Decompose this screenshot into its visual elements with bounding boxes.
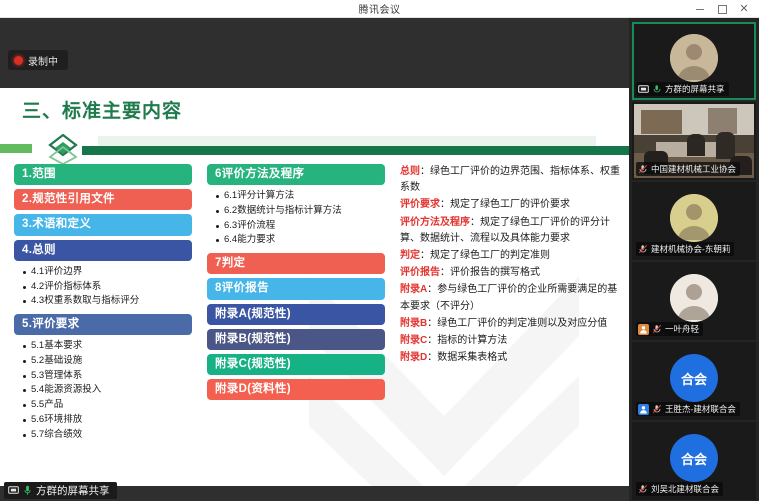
host-badge-icon	[638, 324, 649, 335]
slide-note: 附录B：绿色工厂评价的判定准则以及对应分值	[400, 316, 622, 332]
slide-note-label: 附录A	[400, 284, 427, 295]
participant-tile[interactable]: 中国建材机械工业协会	[632, 102, 756, 180]
slide-bullet-list: 5.1基本要求5.2基础设施5.3管理体系5.4能源资源投入5.5产品5.6环境…	[22, 339, 192, 442]
slide-bullet-item: 5.5产品	[22, 398, 192, 413]
slide-bullet-list: 6.1评分计算方法6.2数据统计与指标计算方法6.3评价流程6.4能力要求	[215, 189, 385, 248]
slide-note: 附录D：数据采集表格式	[400, 350, 622, 366]
slide-chip: 8评价报告	[207, 278, 385, 299]
participant-tile[interactable]: 合会刘吴北建材联合会	[632, 422, 756, 500]
meeting-stage: 录制中 三、标准主要内容 1.范围2.规范性引用文件3.术语和定义4.	[0, 18, 629, 501]
participant-name-bar: 建材机械协会-东朝莉	[636, 242, 734, 256]
participant-name-bar: 中国建材机械工业协会	[636, 162, 740, 176]
slide-note-label: 评价要求	[400, 199, 440, 210]
slide-note-text: ：规定了绿色工厂的评价要求	[440, 199, 570, 210]
slide-bullet-item: 6.1评分计算方法	[215, 189, 385, 204]
slide-bullet-item: 6.3评价流程	[215, 219, 385, 234]
slide-column-left: 1.范围2.规范性引用文件3.术语和定义4.总则4.1评价边界4.2评价指标体系…	[14, 164, 192, 447]
participant-name: 中国建材机械工业协会	[651, 163, 736, 175]
slide-chip: 1.范围	[14, 164, 192, 185]
slide-bullet-item: 5.3管理体系	[22, 369, 192, 384]
participant-tile[interactable]: 一叶舟轻	[632, 262, 756, 340]
screen-share-icon	[638, 84, 649, 95]
participant-name: 建材机械协会-东朝莉	[651, 243, 730, 255]
microphone-icon	[23, 485, 32, 496]
avatar: 合会	[670, 354, 718, 402]
participant-tile[interactable]: 合会王胜杰-建材联合会	[632, 342, 756, 420]
title-bar: 腾讯会议 ✕	[0, 0, 759, 18]
slide-bullet-list: 4.1评价边界4.2评价指标体系4.3权重系数取与指标评分	[22, 265, 192, 309]
slide-note-label: 附录D	[400, 352, 427, 363]
participant-name-bar: 一叶舟轻	[636, 322, 703, 336]
slide-chip: 3.术语和定义	[14, 214, 192, 235]
slide-bullet-item: 5.1基本要求	[22, 339, 192, 354]
slide-bullet-item: 4.2评价指标体系	[22, 280, 192, 295]
deco-bar-light	[98, 136, 596, 146]
slide-chip: 附录A(规范性)	[207, 304, 385, 325]
slide-chip: 7判定	[207, 253, 385, 274]
slide-note: 评价报告：评价报告的撰写格式	[400, 265, 622, 281]
slide-chip: 附录B(规范性)	[207, 329, 385, 350]
slide-columns: 1.范围2.规范性引用文件3.术语和定义4.总则4.1评价边界4.2评价指标体系…	[0, 164, 629, 484]
slide-note-text: ：评价报告的撰写格式	[440, 267, 540, 278]
microphone-muted-icon	[638, 164, 648, 174]
slide-bullet-item: 5.6环境排放	[22, 413, 192, 428]
slide-chip: 6评价方法及程序	[207, 164, 385, 185]
share-owner-name: 方群的屏幕共享	[36, 483, 110, 498]
slide-header-decoration	[0, 136, 629, 158]
slide-bullet-item: 5.7综合绩效	[22, 428, 192, 443]
participant-tile[interactable]: 建材机械协会-东朝莉	[632, 182, 756, 260]
participant-name-bar: 王胜杰-建材联合会	[636, 402, 740, 416]
microphone-icon	[652, 84, 662, 94]
microphone-muted-icon	[652, 404, 662, 414]
slide-bullet-item: 4.3权重系数取与指标评分	[22, 294, 192, 309]
slide-title: 三、标准主要内容	[22, 96, 182, 123]
slide-chip: 5.评价要求	[14, 314, 192, 335]
avatar	[670, 194, 718, 242]
participant-name-bar: 刘吴北建材联合会	[636, 482, 723, 496]
window-title: 腾讯会议	[359, 1, 401, 16]
slide-note-text: ：绿色工厂评价的判定准则以及对应分值	[427, 318, 607, 329]
slide-note-text: ：指标的计算方法	[427, 335, 507, 346]
microphone-muted-icon	[638, 484, 648, 494]
participant-name: 刘吴北建材联合会	[651, 483, 719, 495]
maximize-button[interactable]	[711, 0, 733, 18]
screen-share-icon	[8, 485, 19, 496]
screen-share-owner-label: 方群的屏幕共享	[4, 482, 117, 499]
participant-name: 王胜杰-建材联合会	[665, 403, 736, 415]
recording-indicator: 录制中	[8, 50, 68, 70]
slide-note-text: ：绿色工厂评价的边界范围、指标体系、权重系数	[400, 166, 620, 193]
company-logo-icon	[43, 134, 83, 164]
slide-note-label: 评价方法及程序	[400, 217, 470, 228]
slide-column-middle: 6评价方法及程序6.1评分计算方法6.2数据统计与指标计算方法6.3评价流程6.…	[207, 164, 385, 404]
slide-chip: 2.规范性引用文件	[14, 189, 192, 210]
participant-name: 方群的屏幕共享	[665, 83, 725, 95]
slide-note-label: 附录C	[400, 335, 427, 346]
shared-screen-slide[interactable]: 三、标准主要内容 1.范围2.规范性引用文件3.术语和定义4.总则4.1评价边界…	[0, 88, 629, 486]
slide-bullet-item: 4.1评价边界	[22, 265, 192, 280]
slide-note: 总则：绿色工厂评价的边界范围、指标体系、权重系数	[400, 164, 622, 196]
window-controls: ✕	[689, 0, 755, 18]
avatar	[670, 274, 718, 322]
slide-note-text: ：数据采集表格式	[427, 352, 507, 363]
recording-label: 录制中	[28, 53, 58, 68]
slide-note: 评价方法及程序：规定了绿色工厂评价的评分计算、数据统计、流程以及具体能力要求	[400, 215, 622, 247]
host-badge-icon	[638, 404, 649, 415]
slide-bullet-item: 5.2基础设施	[22, 354, 192, 369]
microphone-muted-icon	[652, 324, 662, 334]
slide-bullet-item: 5.4能源资源投入	[22, 383, 192, 398]
microphone-muted-icon	[638, 244, 648, 254]
slide-note: 判定：规定了绿色工厂的判定准则	[400, 248, 622, 264]
minimize-button[interactable]	[689, 0, 711, 18]
participant-name-bar: 方群的屏幕共享	[636, 82, 729, 96]
close-button[interactable]: ✕	[733, 0, 755, 18]
tencent-meeting-window: 腾讯会议 ✕ 录制中 三、标准主要内容	[0, 0, 759, 501]
deco-bar-dark	[82, 146, 629, 155]
participant-thumbnail-rail[interactable]: 方群的屏幕共享中国建材机械工业协会建材机械协会-东朝莉一叶舟轻合会王胜杰-建材联…	[629, 18, 759, 501]
participant-tile[interactable]: 方群的屏幕共享	[632, 22, 756, 100]
slide-chip: 附录D(资料性)	[207, 379, 385, 400]
avatar	[670, 34, 718, 82]
slide-note: 评价要求：规定了绿色工厂的评价要求	[400, 197, 622, 213]
record-dot-icon	[14, 56, 23, 65]
slide-note-text: ：规定了绿色工厂的判定准则	[420, 250, 550, 261]
deco-bar-left	[0, 144, 32, 153]
slide-note-label: 总则	[400, 166, 420, 177]
slide-note-text: ：参与绿色工厂评价的企业所需要满足的基本要求（不评分）	[400, 284, 617, 311]
slide-note-label: 判定	[400, 250, 420, 261]
slide-chip: 4.总则	[14, 240, 192, 261]
slide-bullet-item: 6.2数据统计与指标计算方法	[215, 204, 385, 219]
slide-bullet-item: 6.4能力要求	[215, 233, 385, 248]
slide-column-right: 总则：绿色工厂评价的边界范围、指标体系、权重系数评价要求：规定了绿色工厂的评价要…	[400, 164, 622, 367]
slide-chip: 附录C(规范性)	[207, 354, 385, 375]
slide-note: 附录C：指标的计算方法	[400, 333, 622, 349]
slide-note-label: 附录B	[400, 318, 427, 329]
slide-note: 附录A：参与绿色工厂评价的企业所需要满足的基本要求（不评分）	[400, 282, 622, 314]
avatar: 合会	[670, 434, 718, 482]
participant-name: 一叶舟轻	[665, 323, 699, 335]
slide-note-label: 评价报告	[400, 267, 440, 278]
